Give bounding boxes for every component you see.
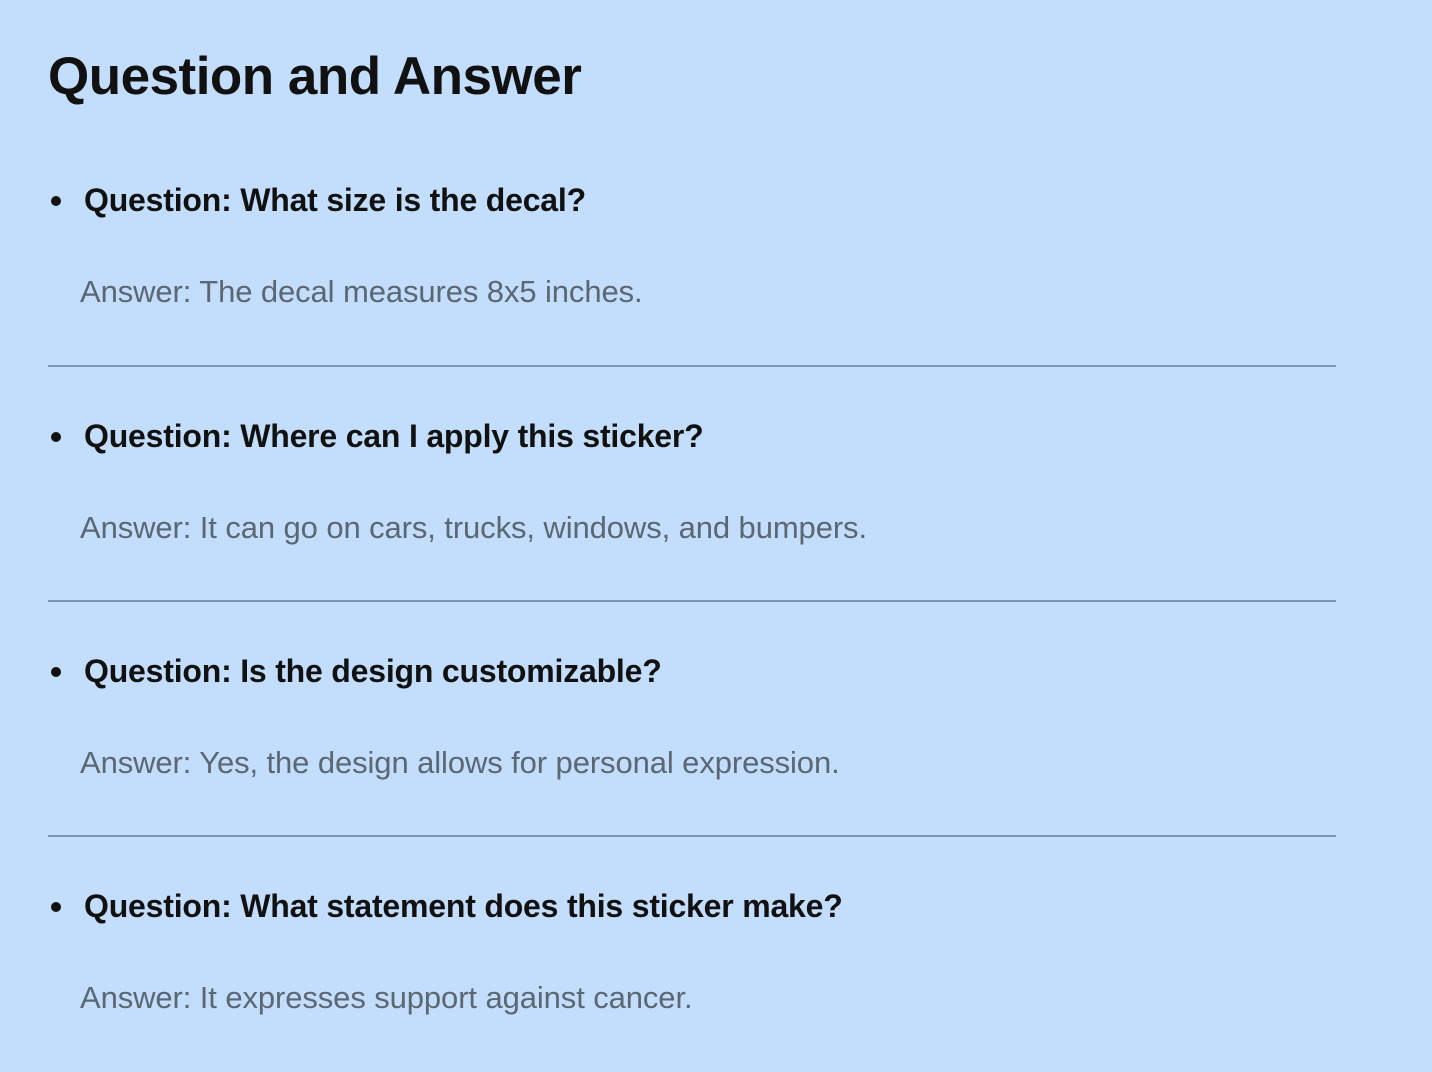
faq-question: Question: What size is the decal? xyxy=(84,179,1384,222)
list-item: Question: What statement does this stick… xyxy=(48,885,1384,1018)
bullet-icon xyxy=(51,667,61,677)
faq-answer: Answer: It can go on cars, trucks, windo… xyxy=(80,508,1384,548)
faq-divider xyxy=(48,835,1336,837)
faq-divider xyxy=(48,600,1336,602)
faq-question-row: Question: Where can I apply this sticker… xyxy=(48,415,1384,459)
list-item: Question: Where can I apply this sticker… xyxy=(48,415,1384,602)
bullet-icon xyxy=(51,902,61,912)
faq-question: Question: Where can I apply this sticker… xyxy=(84,415,1384,458)
list-item: Question: What size is the decal? Answer… xyxy=(48,179,1384,366)
faq-divider xyxy=(48,365,1336,367)
page-title: Question and Answer xyxy=(48,47,1384,106)
bullet-icon xyxy=(51,432,61,442)
faq-question-row: Question: Is the design customizable? xyxy=(48,650,1384,694)
faq-answer: Answer: Yes, the design allows for perso… xyxy=(80,743,1384,783)
faq-question: Question: Is the design customizable? xyxy=(84,650,1384,693)
list-item: Question: Is the design customizable? An… xyxy=(48,650,1384,837)
bullet-icon xyxy=(51,196,61,206)
faq-answer: Answer: The decal measures 8x5 inches. xyxy=(80,272,1384,312)
faq-question-row: Question: What size is the decal? xyxy=(48,179,1384,223)
faq-question-row: Question: What statement does this stick… xyxy=(48,885,1384,929)
faq-answer: Answer: It expresses support against can… xyxy=(80,978,1384,1018)
faq-list: Question: What size is the decal? Answer… xyxy=(48,179,1384,1018)
faq-question: Question: What statement does this stick… xyxy=(84,885,1384,928)
qa-page: Question and Answer Question: What size … xyxy=(0,0,1432,1072)
